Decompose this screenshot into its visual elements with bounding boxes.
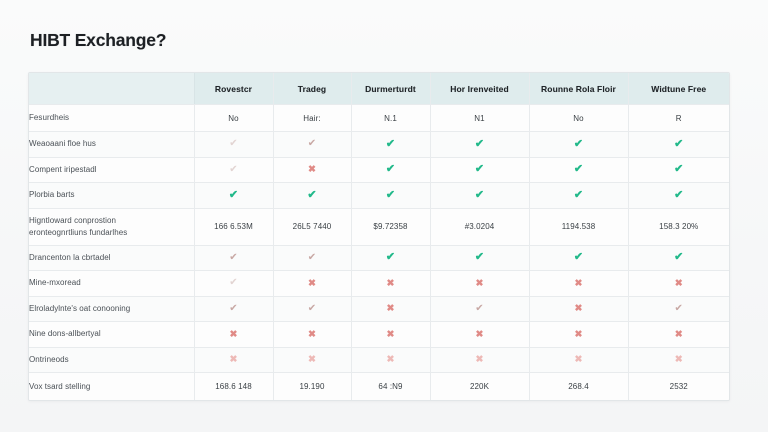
cell-value: R <box>628 105 729 132</box>
cross-mark-glyph: ✖ <box>308 279 316 289</box>
check-icon: ✔ <box>194 183 273 209</box>
check-icon: ✔ <box>194 132 273 158</box>
cross-icon: ✖ <box>430 271 529 297</box>
row-feature-label-line1: Higntloward conprostion <box>29 215 194 227</box>
table-row: Weaoaani floe hus✔✔✔✔✔✔ <box>29 132 729 158</box>
cross-mark-glyph: ✖ <box>475 355 483 365</box>
cross-mark-glyph: ✖ <box>308 165 316 175</box>
check-icon: ✔ <box>628 132 729 158</box>
table-row: Elroladylnte's oat conooning✔✔✖✔✖✔ <box>29 296 729 322</box>
cross-icon: ✖ <box>628 347 729 373</box>
row-feature-label: Fesurdheis <box>29 105 194 132</box>
check-mark-glyph: ✔ <box>475 252 484 263</box>
check-mark-glyph: ✔ <box>674 190 683 201</box>
cross-icon: ✖ <box>273 347 351 373</box>
check-icon: ✔ <box>628 183 729 209</box>
check-icon: ✔ <box>351 183 430 209</box>
row-feature-label-line2: eronteognrtliuns fundarlhes <box>29 227 194 239</box>
cross-icon: ✖ <box>273 157 351 183</box>
cross-mark-glyph: ✖ <box>308 330 316 340</box>
check-mark-glyph: ✔ <box>308 304 316 314</box>
cell-value: 268.4 <box>529 373 628 401</box>
check-mark-glyph: ✔ <box>574 139 583 150</box>
row-feature-label: Nine dons-allbertyal <box>29 322 194 348</box>
check-icon: ✔ <box>273 132 351 158</box>
check-mark-glyph: ✔ <box>229 253 237 263</box>
cross-icon: ✖ <box>430 322 529 348</box>
column-header-2[interactable]: Tradeg <box>273 73 351 105</box>
row-feature-label: Compent iripestadl <box>29 157 194 183</box>
cross-mark-glyph: ✖ <box>574 304 582 314</box>
cross-mark-glyph: ✖ <box>574 355 582 365</box>
table-row: Plorbia barts✔✔✔✔✔✔ <box>29 183 729 209</box>
cell-value: 2532 <box>628 373 729 401</box>
check-icon: ✔ <box>628 296 729 322</box>
check-icon: ✔ <box>194 157 273 183</box>
cross-mark-glyph: ✖ <box>675 330 683 340</box>
check-mark-glyph: ✔ <box>674 164 683 175</box>
cross-mark-glyph: ✖ <box>475 279 483 289</box>
cross-mark-glyph: ✖ <box>386 330 394 340</box>
check-mark-glyph: ✔ <box>386 164 395 175</box>
cross-icon: ✖ <box>430 347 529 373</box>
cell-value: 19.190 <box>273 373 351 401</box>
cross-icon: ✖ <box>351 271 430 297</box>
table-row: FesurdheisNoHair:N.1N1NoR <box>29 105 729 132</box>
table-row: Compent iripestadl✔✖✔✔✔✔ <box>29 157 729 183</box>
cell-value: 158.3 20% <box>628 208 729 245</box>
cell-value: N1 <box>430 105 529 132</box>
table-row: Nine dons-allbertyal✖✖✖✖✖✖ <box>29 322 729 348</box>
check-icon: ✔ <box>430 296 529 322</box>
check-mark-glyph: ✔ <box>229 165 237 175</box>
cell-value: 26L5 7440 <box>273 208 351 245</box>
column-header-5[interactable]: Rounne Rola Floir <box>529 73 628 105</box>
check-mark-glyph: ✔ <box>307 190 316 201</box>
cell-value: $9.72358 <box>351 208 430 245</box>
comparison-table: Rovestcr Tradeg Durmerturdt Hor Irenveit… <box>29 73 729 400</box>
column-header-feature <box>29 73 194 105</box>
check-icon: ✔ <box>529 183 628 209</box>
cross-mark-glyph: ✖ <box>308 355 316 365</box>
table-row: Mine-mxoread✔✖✖✖✖✖ <box>29 271 729 297</box>
cross-icon: ✖ <box>194 322 273 348</box>
row-feature-label: Mine-mxoread <box>29 271 194 297</box>
cell-value: #3.0204 <box>430 208 529 245</box>
row-feature-label: Plorbia barts <box>29 183 194 209</box>
check-icon: ✔ <box>628 157 729 183</box>
check-icon: ✔ <box>529 132 628 158</box>
cross-icon: ✖ <box>628 322 729 348</box>
check-icon: ✔ <box>273 245 351 271</box>
cross-icon: ✖ <box>529 347 628 373</box>
cross-mark-glyph: ✖ <box>229 330 237 340</box>
check-mark-glyph: ✔ <box>475 304 483 314</box>
check-icon: ✔ <box>194 245 273 271</box>
row-feature-label: Drancenton la cbrtadel <box>29 245 194 271</box>
table-row: Vox tsard stelling168.6 14819.19064 :N92… <box>29 373 729 401</box>
row-feature-label: Higntloward conprostioneronteognrtliuns … <box>29 208 194 245</box>
cell-value: No <box>529 105 628 132</box>
table-row: Higntloward conprostioneronteognrtliuns … <box>29 208 729 245</box>
table-header-row: Rovestcr Tradeg Durmerturdt Hor Irenveit… <box>29 73 729 105</box>
check-mark-glyph: ✔ <box>229 190 238 201</box>
cross-mark-glyph: ✖ <box>675 279 683 289</box>
check-icon: ✔ <box>430 157 529 183</box>
check-mark-glyph: ✔ <box>674 139 683 150</box>
cross-icon: ✖ <box>351 296 430 322</box>
cross-icon: ✖ <box>351 347 430 373</box>
check-icon: ✔ <box>628 245 729 271</box>
cross-mark-glyph: ✖ <box>574 330 582 340</box>
cross-mark-glyph: ✖ <box>386 304 394 314</box>
check-mark-glyph: ✔ <box>229 304 237 314</box>
row-feature-label: Weaoaani floe hus <box>29 132 194 158</box>
table-header: Rovestcr Tradeg Durmerturdt Hor Irenveit… <box>29 73 729 105</box>
cell-value: 168.6 148 <box>194 373 273 401</box>
check-mark-glyph: ✔ <box>386 190 395 201</box>
cross-mark-glyph: ✖ <box>475 330 483 340</box>
cross-mark-glyph: ✖ <box>229 355 237 365</box>
cell-value: 220K <box>430 373 529 401</box>
check-mark-glyph: ✔ <box>475 164 484 175</box>
check-mark-glyph: ✔ <box>574 252 583 263</box>
check-icon: ✔ <box>194 271 273 297</box>
check-icon: ✔ <box>351 157 430 183</box>
cell-value: 1194.538 <box>529 208 628 245</box>
check-mark-glyph: ✔ <box>475 139 484 150</box>
cross-mark-glyph: ✖ <box>675 355 683 365</box>
row-feature-label: Vox tsard stelling <box>29 373 194 401</box>
check-icon: ✔ <box>430 183 529 209</box>
comparison-table-container: Rovestcr Tradeg Durmerturdt Hor Irenveit… <box>28 72 730 401</box>
check-mark-glyph: ✔ <box>308 139 316 149</box>
page-title: HIBT Exchange? <box>30 30 166 51</box>
row-feature-label: Elroladylnte's oat conooning <box>29 296 194 322</box>
check-icon: ✔ <box>273 183 351 209</box>
check-icon: ✔ <box>430 132 529 158</box>
column-header-3[interactable]: Durmerturdt <box>351 73 430 105</box>
check-mark-glyph: ✔ <box>675 304 683 314</box>
row-feature-label: Ontrineods <box>29 347 194 373</box>
column-header-4[interactable]: Hor Irenveited <box>430 73 529 105</box>
cross-icon: ✖ <box>529 271 628 297</box>
check-icon: ✔ <box>194 296 273 322</box>
check-mark-glyph: ✔ <box>386 252 395 263</box>
cell-value: 64 :N9 <box>351 373 430 401</box>
check-mark-glyph: ✔ <box>229 139 237 149</box>
cross-icon: ✖ <box>351 322 430 348</box>
cell-value: N.1 <box>351 105 430 132</box>
check-mark-glyph: ✔ <box>229 278 237 288</box>
check-mark-glyph: ✔ <box>574 190 583 201</box>
check-mark-glyph: ✔ <box>475 190 484 201</box>
cross-icon: ✖ <box>194 347 273 373</box>
table-row: Ontrineods✖✖✖✖✖✖ <box>29 347 729 373</box>
cross-icon: ✖ <box>273 322 351 348</box>
cross-icon: ✖ <box>628 271 729 297</box>
check-mark-glyph: ✔ <box>574 164 583 175</box>
table-body: FesurdheisNoHair:N.1N1NoRWeaoaani floe h… <box>29 105 729 401</box>
check-icon: ✔ <box>529 157 628 183</box>
column-header-1[interactable]: Rovestcr <box>194 73 273 105</box>
page-root: HIBT Exchange? Rovestcr Tradeg Durmertur… <box>0 0 768 432</box>
cross-icon: ✖ <box>273 271 351 297</box>
cell-value: 166 6.53M <box>194 208 273 245</box>
cross-mark-glyph: ✖ <box>574 279 582 289</box>
cross-icon: ✖ <box>529 322 628 348</box>
check-mark-glyph: ✔ <box>386 139 395 150</box>
check-icon: ✔ <box>430 245 529 271</box>
column-header-6[interactable]: Widtune Free <box>628 73 729 105</box>
check-icon: ✔ <box>273 296 351 322</box>
check-icon: ✔ <box>351 245 430 271</box>
check-icon: ✔ <box>529 245 628 271</box>
table-row: Drancenton la cbrtadel✔✔✔✔✔✔ <box>29 245 729 271</box>
check-mark-glyph: ✔ <box>674 252 683 263</box>
cross-mark-glyph: ✖ <box>386 279 394 289</box>
cross-icon: ✖ <box>529 296 628 322</box>
check-icon: ✔ <box>351 132 430 158</box>
check-mark-glyph: ✔ <box>308 253 316 263</box>
cross-mark-glyph: ✖ <box>386 355 394 365</box>
cell-value: No <box>194 105 273 132</box>
cell-value: Hair: <box>273 105 351 132</box>
